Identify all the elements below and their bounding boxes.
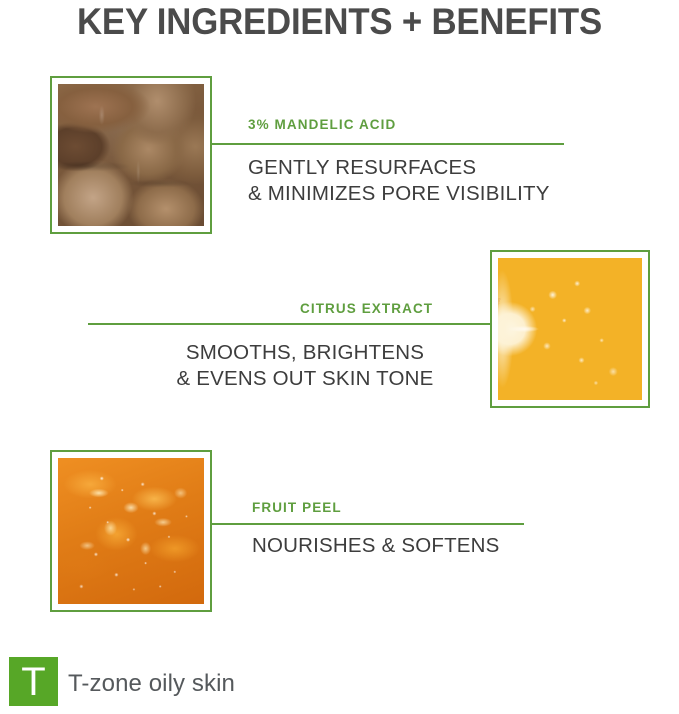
ingredient-description-mandelic-acid: GENTLY RESURFACES & MINIMIZES PORE VISIB… <box>248 155 550 207</box>
ingredient-label-mandelic-acid: 3% MANDELIC ACID <box>248 117 396 132</box>
ingredient-label-fruit-peel: FRUIT PEEL <box>252 500 342 515</box>
divider-rule-citrus-extract <box>88 323 490 325</box>
divider-rule-mandelic-acid <box>212 143 564 145</box>
almonds-photo-image <box>58 84 204 226</box>
almonds-photo <box>50 76 212 234</box>
ingredient-description-fruit-peel: NOURISHES & SOFTENS <box>252 533 500 559</box>
fruit-peel-photo <box>50 450 212 612</box>
fruit-peel-photo-image <box>58 458 204 604</box>
divider-rule-fruit-peel <box>212 523 524 525</box>
t-zone-label: T-zone oily skin <box>68 670 235 698</box>
page-title: KEY INGREDIENTS + BENEFITS <box>20 0 658 44</box>
t-zone-badge: T <box>9 657 58 706</box>
orange-slice-photo-image <box>498 258 642 400</box>
orange-slice-photo <box>490 250 650 408</box>
ingredient-label-citrus-extract: CITRUS EXTRACT <box>300 301 433 316</box>
ingredient-description-citrus-extract: SMOOTHS, BRIGHTENS & EVENS OUT SKIN TONE <box>130 340 480 392</box>
